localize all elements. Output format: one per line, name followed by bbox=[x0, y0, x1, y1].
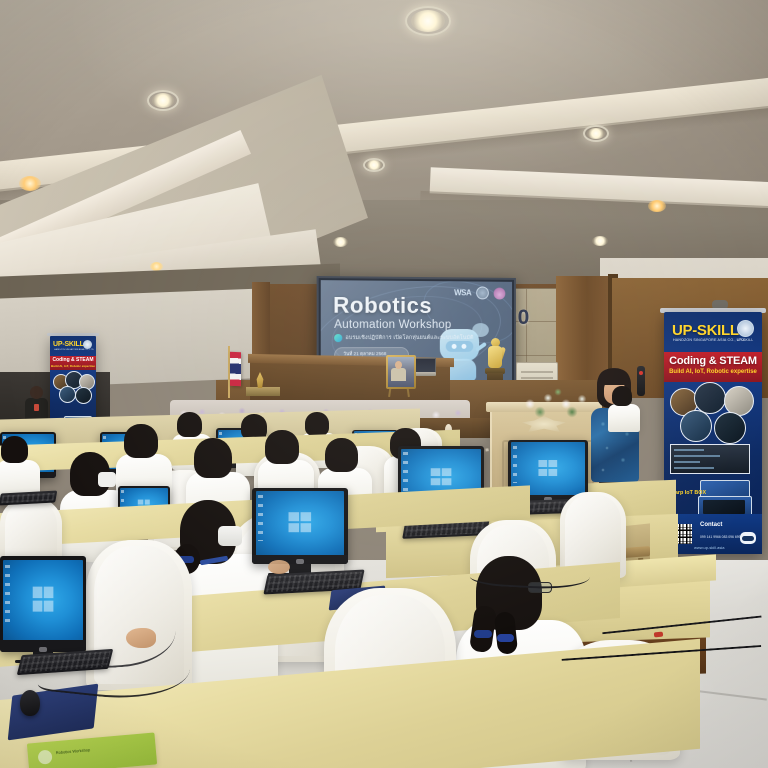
slide-thai-row: อบรมเชิงปฏิบัติการ เปิดโลกหุ่นยนต์และระบ… bbox=[334, 334, 473, 342]
face-mask bbox=[218, 526, 242, 546]
recessed-downlight-icon bbox=[583, 125, 609, 142]
royal-portrait-frame bbox=[386, 355, 416, 389]
recessed-downlight-icon bbox=[147, 90, 179, 111]
banner-right-headline: Coding & STEAM bbox=[664, 355, 762, 367]
banner-right-tagline: Build AI, IoT, Robotic expertise bbox=[664, 369, 762, 375]
banner-left-logo bbox=[83, 340, 93, 352]
banner-right-upskill: UP-SKILL HANDZON SINGAPORE ASIA CO., LTD… bbox=[664, 312, 762, 554]
lotus-logo bbox=[494, 287, 506, 299]
recessed-downlight-icon bbox=[363, 158, 385, 172]
face-mask bbox=[98, 472, 116, 487]
computer-monitor[interactable] bbox=[252, 488, 348, 564]
slide-bullet-icon bbox=[334, 334, 342, 342]
buddha-altar bbox=[246, 372, 280, 396]
mic-status-led-icon bbox=[639, 371, 643, 375]
golden-trophy-statue bbox=[484, 338, 506, 386]
banner-robot-mascot-icon bbox=[738, 532, 758, 550]
banner-left-brand: UP-SKILL bbox=[53, 341, 84, 348]
warm-downlight-icon bbox=[648, 200, 666, 212]
recessed-downlight-icon bbox=[592, 236, 608, 246]
banner-right-brand-sub: HANDZON SINGAPORE ASIA CO., LTD. bbox=[673, 338, 745, 342]
banner-photo-circle bbox=[714, 412, 746, 444]
computer-mouse[interactable] bbox=[20, 690, 40, 716]
slide-thai-line: อบรมเชิงปฏิบัติการ เปิดโลกหุ่นยนต์และระบ… bbox=[345, 334, 473, 342]
banner-right-logo-label: UP-SKILL bbox=[736, 338, 754, 342]
banner-right-logo: UP-SKILL bbox=[736, 320, 754, 342]
banner-equipment-photo bbox=[670, 444, 750, 474]
hair-tie bbox=[474, 630, 492, 638]
recessed-downlight-icon bbox=[333, 237, 348, 247]
banner-photo-circle bbox=[694, 382, 726, 414]
slide-subtitle: Automation Workshop bbox=[334, 319, 451, 331]
banner-iot-kit-case bbox=[698, 480, 750, 518]
slide-title: Robotics bbox=[333, 294, 432, 317]
handout-text: Robotics Workshop bbox=[56, 747, 91, 756]
student-person bbox=[608, 386, 642, 432]
handout-logo-icon bbox=[38, 750, 53, 765]
warm-downlight-icon bbox=[19, 176, 41, 191]
banner-right-brand: UP-SKILL bbox=[672, 322, 739, 339]
banner-photo-circle bbox=[680, 410, 712, 442]
banner-url: www.up-skill.asia bbox=[694, 545, 724, 550]
student-hand bbox=[268, 560, 290, 574]
banner-contact-heading: Contact bbox=[700, 522, 722, 528]
podium-flower-arrangement bbox=[516, 384, 594, 420]
institution-seal-logo bbox=[476, 286, 489, 299]
photo-scene: 20 WSA bbox=[0, 0, 768, 768]
wsa-logo: WSA bbox=[454, 288, 471, 297]
banner-contact-phone: 099 141 9966 083 096 6996 bbox=[700, 535, 742, 540]
thai-national-flag bbox=[228, 352, 242, 396]
recessed-downlight-icon bbox=[405, 6, 451, 36]
royal-portrait-easel bbox=[383, 355, 417, 397]
lightbulb-logo-icon bbox=[737, 320, 754, 337]
hair-tie bbox=[497, 634, 514, 642]
banner-left-headline: Coding & STEAM bbox=[50, 357, 96, 363]
cable-connector bbox=[654, 632, 663, 638]
banner-left-tagline: Build AI, IoT, Robotic expertise bbox=[50, 364, 96, 368]
slide-logo-row: WSA bbox=[454, 286, 505, 299]
